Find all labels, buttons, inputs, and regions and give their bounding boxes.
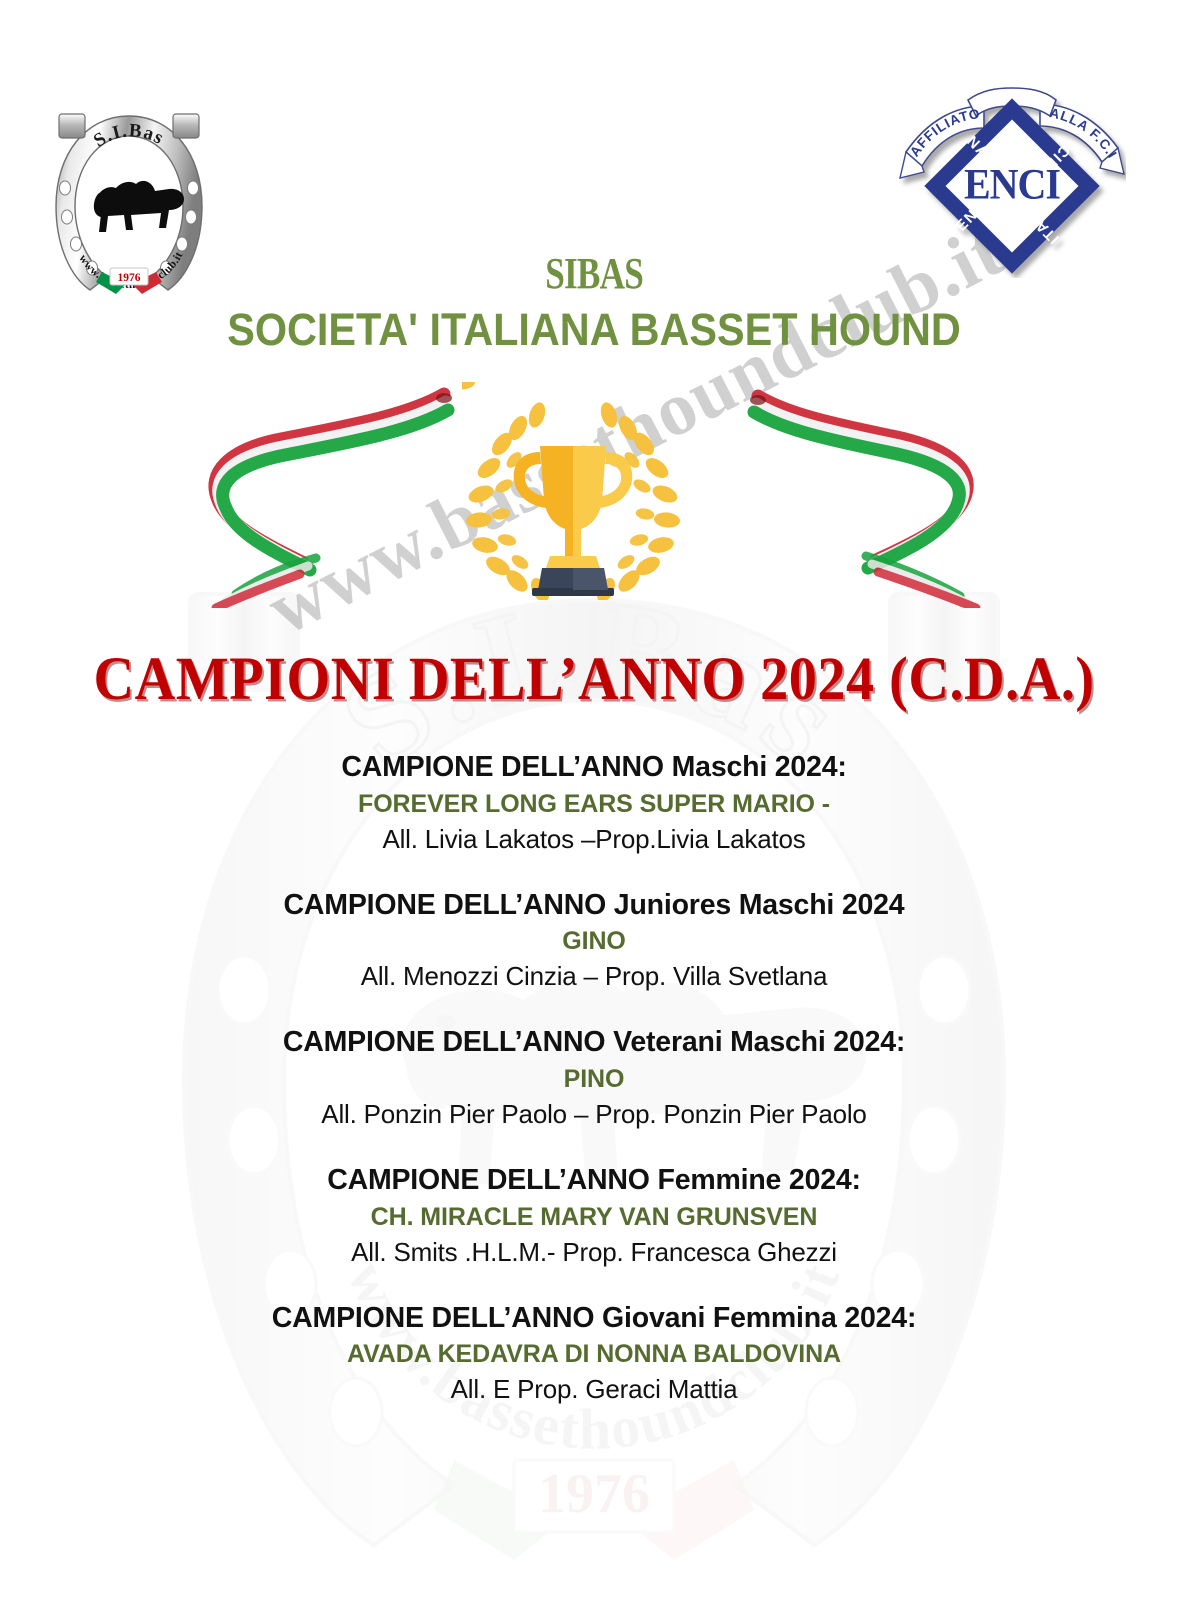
trophy-cup-icon: [462, 382, 684, 600]
italian-tricolor-ribbon-right-icon: [716, 380, 996, 608]
award-breeder-owner: All. Smits .H.L.M.- Prop. Francesca Ghez…: [0, 1235, 1188, 1271]
award-entry: CAMPIONE DELL’ANNO Maschi 2024: FOREVER …: [0, 748, 1188, 858]
award-dog-name: CH. MIRACLE MARY VAN GRUNSVEN: [0, 1200, 1188, 1235]
svg-text:1976: 1976: [538, 1463, 650, 1525]
svg-text:1976: 1976: [118, 272, 141, 284]
award-category-heading: CAMPIONE DELL’ANNO Juniores Maschi 2024: [0, 886, 1188, 925]
award-category-heading: CAMPIONE DELL’ANNO Femmine 2024:: [0, 1161, 1188, 1200]
sibas-club-logo: S.I.Bas www.bassethoundclub.it 1976: [34, 96, 224, 296]
award-dog-name: GINO: [0, 924, 1188, 959]
page-title: CAMPIONI DELL’ANNO 2024 (C.D.A.): [0, 645, 1188, 712]
award-entry: CAMPIONE DELL’ANNO Femmine 2024: CH. MIR…: [0, 1161, 1188, 1271]
award-dog-name: FOREVER LONG EARS SUPER MARIO -: [0, 787, 1188, 822]
italian-tricolor-ribbon-left-icon: [196, 380, 466, 608]
enci-logo: AFFILIATO ALLA F.C.I. NAZIONALE CINOFILI…: [898, 82, 1126, 278]
award-dog-name: PINO: [0, 1062, 1188, 1097]
award-category-heading: CAMPIONE DELL’ANNO Giovani Femmina 2024:: [0, 1299, 1188, 1338]
award-entries-list: CAMPIONE DELL’ANNO Maschi 2024: FOREVER …: [0, 748, 1188, 1436]
svg-text:ENCI: ENCI: [964, 161, 1060, 209]
award-breeder-owner: All. Livia Lakatos –Prop.Livia Lakatos: [0, 822, 1188, 858]
award-entry: CAMPIONE DELL’ANNO Giovani Femmina 2024:…: [0, 1299, 1188, 1409]
award-breeder-owner: All. E Prop. Geraci Mattia: [0, 1372, 1188, 1408]
poster-page: S.I.Bas 1976 www.bassethoundclub.it www.…: [0, 0, 1188, 1600]
award-breeder-owner: All. Ponzin Pier Paolo – Prop. Ponzin Pi…: [0, 1097, 1188, 1133]
club-full-name: SOCIETA' ITALIANA BASSET HOUND: [48, 306, 1141, 353]
page-title-text: CAMPIONI DELL’ANNO 2024 (C.D.A.): [93, 643, 1094, 714]
award-category-heading: CAMPIONE DELL’ANNO Maschi 2024:: [0, 748, 1188, 787]
emblem-row: [0, 378, 1188, 608]
award-category-heading: CAMPIONE DELL’ANNO Veterani Maschi 2024:: [0, 1023, 1188, 1062]
award-breeder-owner: All. Menozzi Cinzia – Prop. Villa Svetla…: [0, 959, 1188, 995]
award-dog-name: AVADA KEDAVRA DI NONNA BALDOVINA: [0, 1337, 1188, 1372]
award-entry: CAMPIONE DELL’ANNO Veterani Maschi 2024:…: [0, 1023, 1188, 1133]
award-entry: CAMPIONE DELL’ANNO Juniores Maschi 2024 …: [0, 886, 1188, 996]
club-acronym: SIBAS: [545, 252, 643, 296]
